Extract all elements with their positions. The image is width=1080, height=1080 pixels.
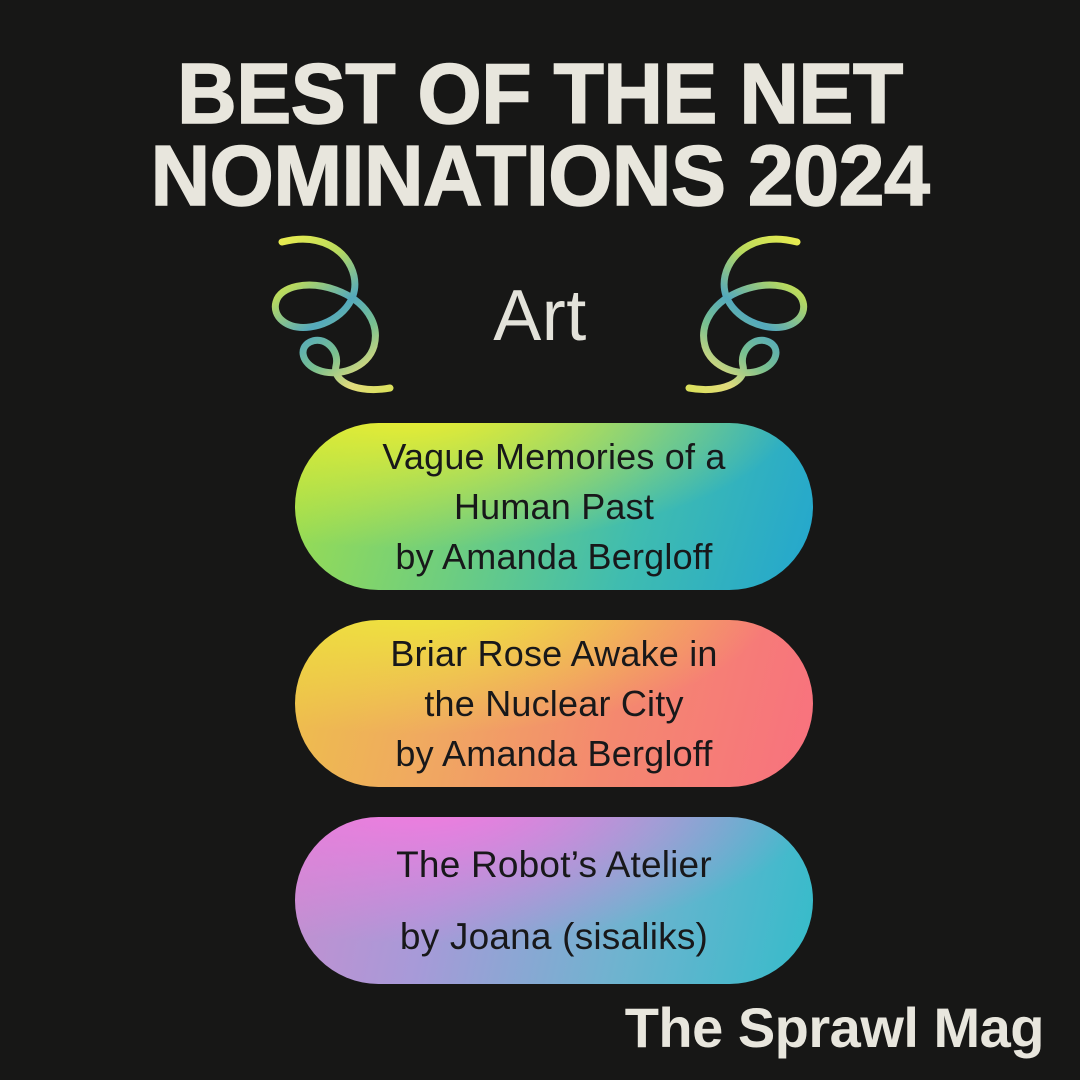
nomination-text: Briar Rose Awake in the Nuclear City by … [364, 629, 743, 779]
title-line-1: BEST OF THE NET [16, 54, 1064, 136]
title-line-2: NOMINATIONS 2024 [16, 136, 1064, 218]
nomination-card[interactable]: The Robot’s Atelier by Joana (sisaliks) [295, 817, 813, 984]
category-subtitle: Art [0, 228, 1080, 403]
nomination-list: Vague Memories of a Human Past by Amanda… [295, 423, 813, 984]
nomination-text: The Robot’s Atelier by Joana (sisaliks) [370, 829, 738, 973]
brand-footer: The Sprawl Mag [625, 996, 1044, 1060]
nomination-text: Vague Memories of a Human Past by Amanda… [356, 432, 751, 582]
subtitle-row: Art [0, 228, 1080, 403]
poster-canvas: BEST OF THE NET NOMINATIONS 2024 [0, 0, 1080, 1080]
nomination-card[interactable]: Briar Rose Awake in the Nuclear City by … [295, 620, 813, 787]
poster-title: BEST OF THE NET NOMINATIONS 2024 [0, 54, 1080, 218]
nomination-card[interactable]: Vague Memories of a Human Past by Amanda… [295, 423, 813, 590]
